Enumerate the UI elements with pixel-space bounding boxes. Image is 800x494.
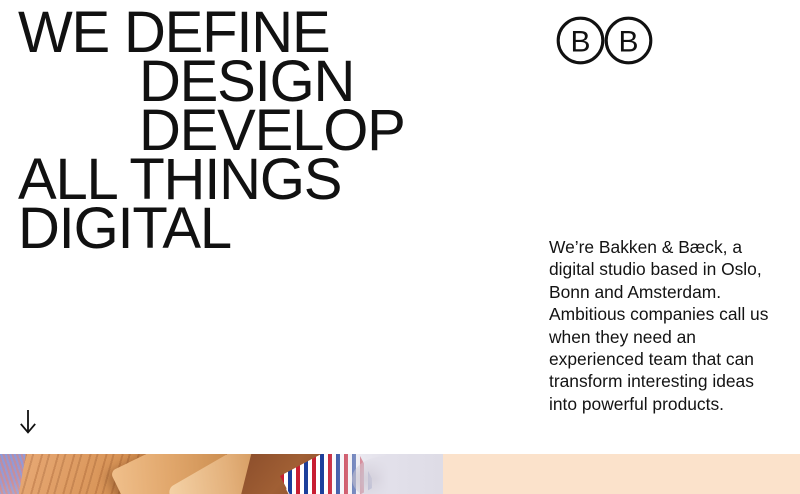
logo-letter-right: B — [618, 26, 638, 59]
media-strip — [0, 454, 800, 494]
photo-right-fade — [323, 454, 443, 494]
peach-panel[interactable] — [443, 454, 800, 494]
hero-intro-paragraph: We’re Bakken & Bæck, a digital studio ba… — [549, 236, 771, 415]
logo-letter-left: B — [570, 26, 590, 59]
bb-logo[interactable]: B B — [556, 16, 653, 65]
scroll-down-button[interactable] — [18, 409, 38, 435]
circled-b-right-icon: B — [604, 16, 653, 65]
arrow-down-icon — [18, 409, 38, 435]
hero-headline: WE DEFINE DESIGN DEVELOP ALL THINGS DIGI… — [18, 8, 478, 253]
page-root: B B WE DEFINE DESIGN DEVELOP ALL THINGS … — [0, 0, 800, 494]
circled-b-left-icon: B — [556, 16, 605, 65]
hands-envelope-photo[interactable] — [0, 454, 443, 494]
